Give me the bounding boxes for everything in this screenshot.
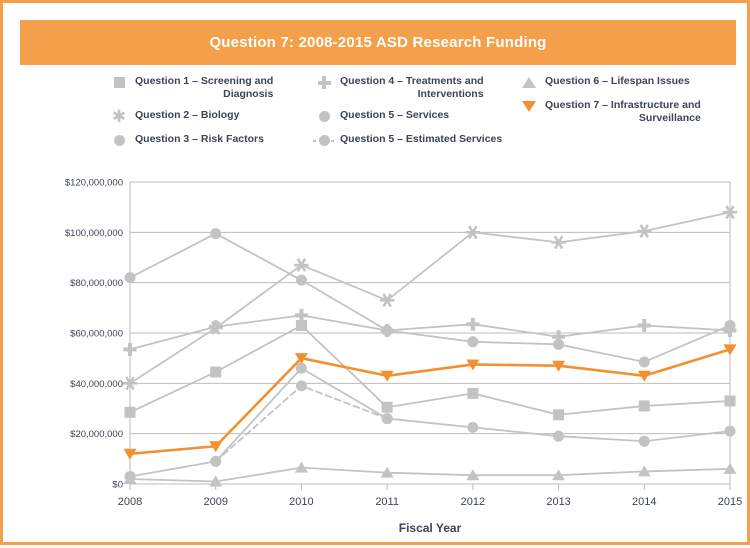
- data-point-marker: [551, 236, 565, 250]
- x-axis-tick-label: 2015: [718, 496, 742, 508]
- x-axis-tick-label: 2011: [375, 496, 399, 508]
- y-axis-tick-label: $120,000,000: [65, 178, 123, 189]
- legend-item-label: Question 1 – Screening and: [135, 75, 273, 87]
- x-axis-tick-labels: 20082009201020112012201320142015: [118, 496, 742, 508]
- y-axis-tick-label: $80,000,000: [70, 278, 123, 289]
- data-point-marker: [467, 388, 478, 399]
- y-axis-tick-labels: $0$20,000,000$40,000,000$60,000,000$80,0…: [65, 178, 123, 491]
- legend-item-label-line2: Interventions: [340, 88, 484, 101]
- data-point-marker: [637, 224, 651, 238]
- data-point-marker: [210, 367, 221, 378]
- legend-item-label-line2: Diagnosis: [135, 88, 273, 101]
- triangle-up-icon: [518, 75, 540, 90]
- legend-item-question-6[interactable]: Question 6 – Lifespan Issues: [518, 75, 743, 90]
- legend-item-label: Question 6 – Lifespan Issues: [545, 75, 690, 88]
- square-icon: [108, 75, 130, 90]
- data-point-marker: [467, 336, 478, 347]
- data-point-marker: [210, 228, 221, 239]
- y-axis-tick-label: $40,000,000: [70, 379, 123, 390]
- dashed-circle-icon: [313, 133, 335, 148]
- title-banner: Question 7: 2008-2015 ASD Research Fundi…: [20, 20, 736, 65]
- legend-item-question-7[interactable]: Question 7 – Infrastructure andSurveilla…: [518, 99, 743, 124]
- data-point-marker: [294, 258, 308, 272]
- chart-frame: Question 7: 2008-2015 ASD Research Fundi…: [0, 0, 750, 545]
- legend-item-label: Question 3 – Risk Factors: [135, 133, 264, 146]
- legend-item-question-5-estimated[interactable]: Question 5 – Estimated Services: [313, 133, 513, 148]
- data-point-marker: [553, 431, 564, 442]
- plus-icon: [313, 75, 335, 90]
- line-chart: $0$20,000,000$40,000,000$60,000,000$80,0…: [3, 159, 750, 548]
- x-axis-title: Fiscal Year: [399, 521, 462, 535]
- data-point-marker: [382, 413, 393, 424]
- y-axis-tick-label: $0: [112, 480, 123, 491]
- data-point-marker: [125, 407, 136, 418]
- legend-item-question-5[interactable]: Question 5 – Services: [313, 109, 513, 124]
- legend-column-3: Question 6 – Lifespan Issues Question 7 …: [518, 75, 743, 133]
- legend-item-question-4[interactable]: Question 4 – Treatments andInterventions: [313, 75, 513, 100]
- legend-item-question-1[interactable]: Question 1 – Screening andDiagnosis: [108, 75, 313, 100]
- data-point-marker: [639, 400, 650, 411]
- series-3: [125, 228, 736, 367]
- series-layer: [123, 205, 737, 486]
- data-point-marker: [296, 275, 307, 286]
- data-point-marker: [296, 380, 307, 391]
- y-axis-tick-label: $20,000,000: [70, 429, 123, 440]
- data-point-marker: [295, 309, 308, 322]
- circle-icon: [108, 133, 130, 148]
- data-point-marker: [210, 456, 221, 467]
- data-point-marker: [381, 324, 394, 337]
- x-axis-tick-label: 2013: [546, 496, 570, 508]
- legend-item-label: Question 4 – Treatments and: [340, 75, 484, 87]
- legend-item-label-line2: Surveillance: [545, 112, 701, 125]
- plot-area: $0$20,000,000$40,000,000$60,000,000$80,0…: [3, 159, 750, 548]
- series-4: [124, 309, 737, 356]
- series-line: [130, 234, 730, 362]
- legend-column-1: Question 1 – Screening andDiagnosis ✱ Qu…: [108, 75, 313, 157]
- series-line: [130, 315, 730, 349]
- legend-item-question-2[interactable]: ✱ Question 2 – Biology: [108, 109, 313, 124]
- triangle-down-icon: [518, 99, 540, 114]
- data-point-marker: [639, 436, 650, 447]
- data-point-marker: [466, 318, 479, 331]
- page-title: Question 7: 2008-2015 ASD Research Fundi…: [209, 34, 546, 51]
- x-axis-tick-label: 2008: [118, 496, 142, 508]
- data-point-marker: [553, 409, 564, 420]
- legend-column-2: Question 4 – Treatments andInterventions…: [313, 75, 513, 157]
- legend-item-label: Question 5 – Estimated Services: [340, 133, 502, 146]
- data-point-marker: [125, 272, 136, 283]
- y-axis-tick-label: $60,000,000: [70, 329, 123, 340]
- asterisk-icon: ✱: [108, 109, 130, 124]
- legend-item-question-3[interactable]: Question 3 – Risk Factors: [108, 133, 313, 148]
- chart-legend: Question 1 – Screening andDiagnosis ✱ Qu…: [108, 75, 738, 159]
- data-point-marker: [467, 422, 478, 433]
- circle-icon: [313, 109, 335, 124]
- data-point-marker: [382, 402, 393, 413]
- x-axis-tick-label: 2014: [632, 496, 656, 508]
- x-axis-tick-label: 2010: [289, 496, 313, 508]
- data-point-marker: [124, 343, 137, 356]
- data-point-marker: [639, 356, 650, 367]
- series-line: [216, 386, 387, 462]
- series-line: [130, 212, 730, 383]
- legend-item-label: Question 7 – Infrastructure and: [545, 99, 701, 111]
- y-axis-tick-label: $100,000,000: [65, 228, 123, 239]
- data-point-marker: [725, 395, 736, 406]
- legend-item-label: Question 5 – Services: [340, 109, 449, 122]
- data-point-marker: [296, 363, 307, 374]
- data-point-marker: [638, 319, 651, 332]
- legend-item-label: Question 2 – Biology: [135, 109, 239, 122]
- data-point-marker: [725, 426, 736, 437]
- x-axis-tick-label: 2012: [461, 496, 485, 508]
- x-axis-tick-label: 2009: [203, 496, 227, 508]
